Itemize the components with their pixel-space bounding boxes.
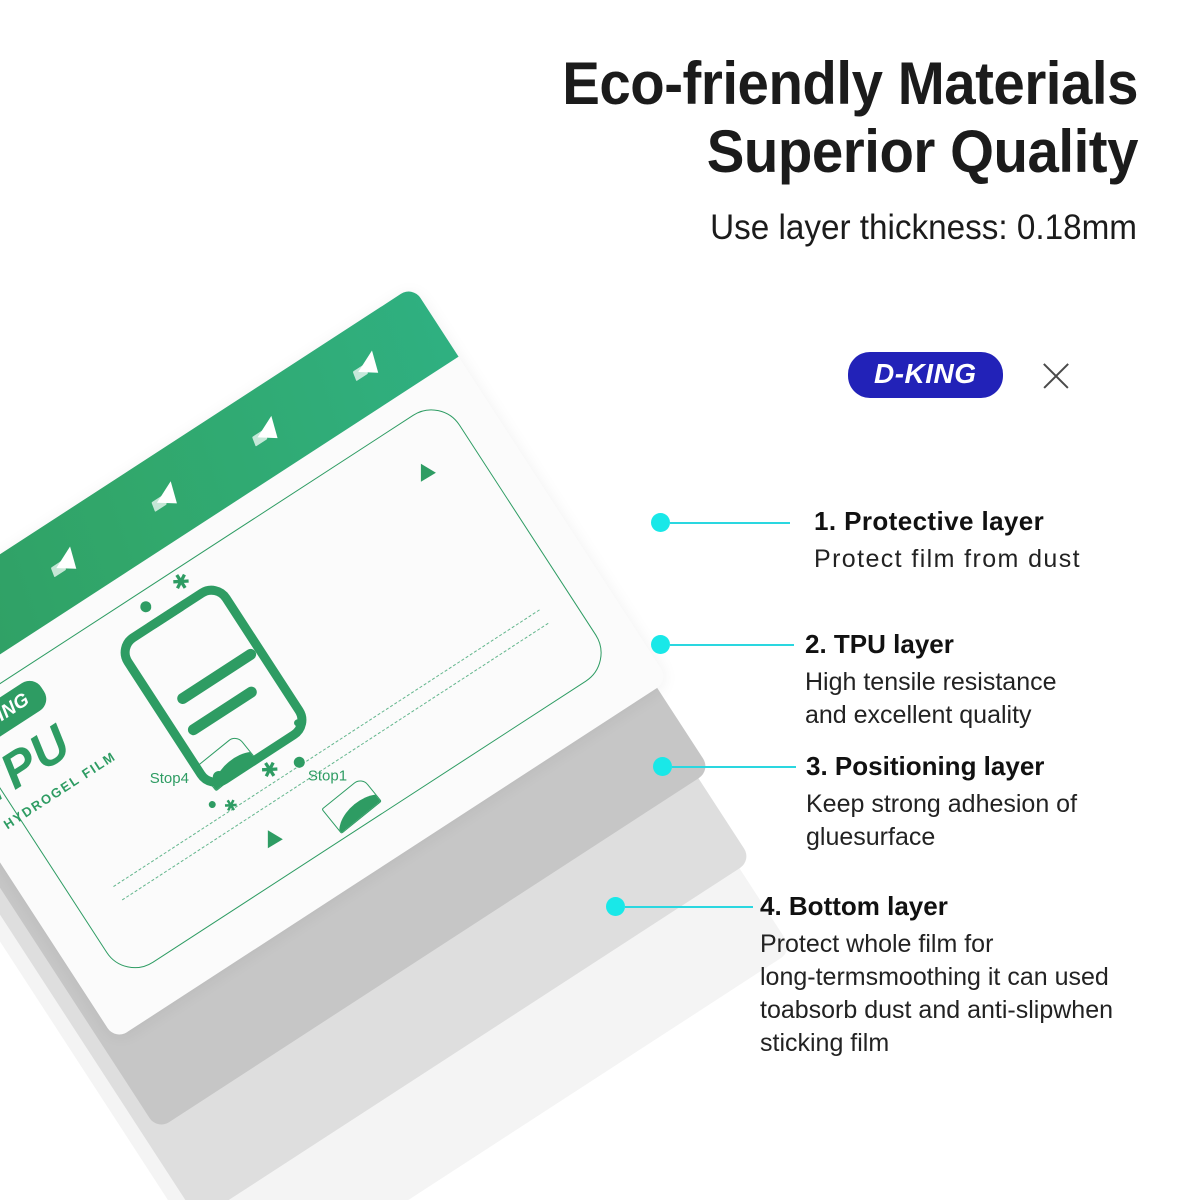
infographic-page: Eco-friendly Materials Superior Quality …: [0, 0, 1200, 1200]
callout-line-4: [625, 906, 753, 908]
callout-1: 1. Protective layer Protect film from du…: [814, 505, 1081, 576]
triangle-marker: [268, 830, 283, 848]
callout-title: 2. TPU layer: [805, 628, 1057, 661]
callout-desc: Protect film from dust: [814, 543, 1081, 576]
callout-line-3: [672, 766, 796, 768]
callout-dot-2[interactable]: [651, 635, 670, 654]
callout-4: 4. Bottom layer Protect whole film for l…: [760, 890, 1113, 1060]
callout-dot-3[interactable]: [653, 757, 672, 776]
callout-desc: High tensile resistance and excellent qu…: [805, 666, 1057, 732]
callout-title: 3. Positioning layer: [806, 750, 1077, 783]
callout-dot-4[interactable]: [606, 897, 625, 916]
callout-title: 4. Bottom layer: [760, 890, 1113, 923]
callout-line-1: [670, 522, 790, 524]
callout-dot-1[interactable]: [651, 513, 670, 532]
callout-title: 1. Protective layer: [814, 505, 1081, 538]
callout-line-2: [670, 644, 794, 646]
stop-label-1: Stop1: [308, 768, 347, 785]
callout-2: 2. TPU layer High tensile resistance and…: [805, 628, 1057, 732]
stop-label-4: Stop4: [150, 770, 189, 787]
callout-3: 3. Positioning layer Keep strong adhesio…: [806, 750, 1077, 854]
callout-desc: Keep strong adhesion of gluesurface: [806, 788, 1077, 854]
callout-desc: Protect whole film for long-termsmoothin…: [760, 928, 1113, 1060]
triangle-marker: [421, 464, 436, 482]
